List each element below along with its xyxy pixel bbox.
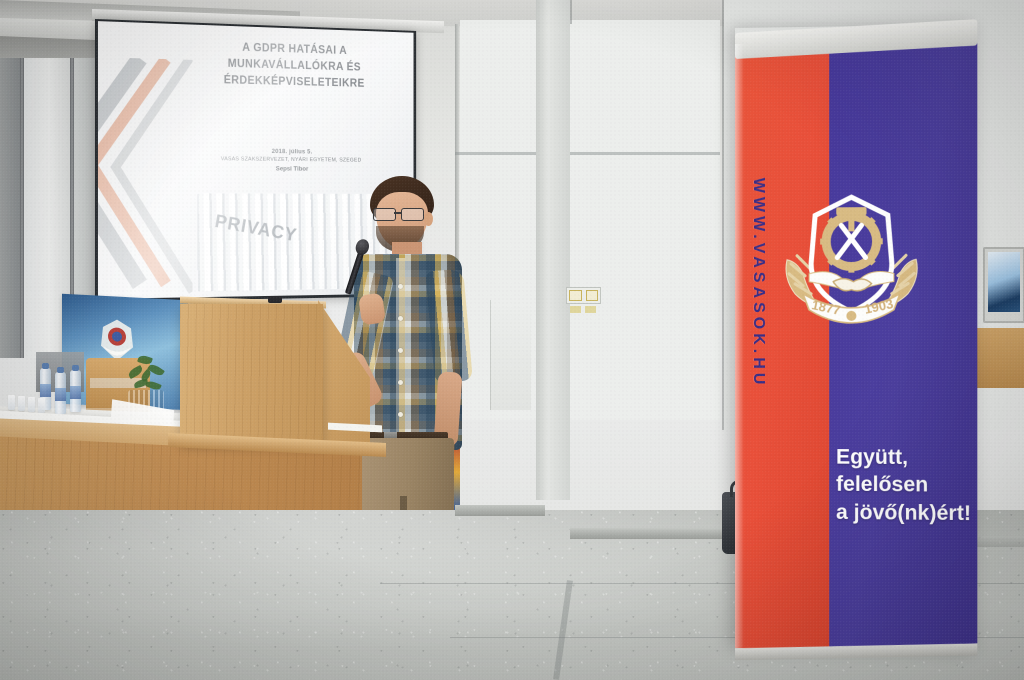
glasses-bridge — [394, 212, 401, 214]
shirt-button — [398, 380, 403, 385]
water-bottle[interactable] — [70, 370, 81, 412]
slide-subtitle: 2018. július 5. VASAS SZAKSZERVEZET, NYÁ… — [177, 147, 401, 173]
banner-left-highlight — [735, 44, 744, 648]
banner-purple-field — [829, 36, 977, 651]
socket-slot-1 — [569, 290, 582, 301]
emblem-year-left: 1877 — [810, 297, 842, 318]
glasses-lens-left — [373, 208, 396, 221]
wall-seam-2 — [570, 0, 572, 24]
drinking-glass[interactable] — [18, 396, 25, 411]
lectern-wood-grain — [180, 304, 323, 444]
monitor-screen — [988, 252, 1020, 312]
photo-scene: A GDPR HATÁSAI A MUNKAVÁLLALÓKRA ÉS ÉRDE… — [0, 0, 1024, 680]
bottle-label — [40, 384, 51, 397]
lectern-mic-clip[interactable] — [268, 296, 282, 303]
banner-slogan: Együtt, felelősen a jövő(nk)ért! — [836, 444, 977, 528]
rollup-banner: WWW.VASASOK.HU — [735, 24, 977, 652]
wall-socket-lower[interactable] — [570, 306, 596, 313]
shirt-button — [398, 316, 403, 321]
slogan-line-2: felelősen — [836, 471, 977, 500]
shirt-button — [398, 412, 403, 417]
drinking-glass[interactable] — [28, 397, 35, 412]
shirt-button — [398, 348, 403, 353]
glasses-lens-right — [401, 208, 424, 221]
drinking-glass[interactable] — [8, 395, 15, 410]
socket-lower-slot-2 — [585, 306, 596, 313]
wall-recess — [490, 300, 531, 410]
slogan-line-1: Együtt, — [836, 444, 977, 472]
slogan-line-3: a jövő(nk)ért! — [836, 498, 977, 527]
structural-pillar — [536, 0, 570, 500]
water-bottle[interactable] — [55, 372, 66, 414]
glasses-icon — [373, 208, 427, 219]
banner-url: WWW.VASASOK.HU — [749, 178, 767, 389]
wall-trim — [455, 152, 720, 155]
drinking-glass[interactable] — [38, 398, 45, 413]
slide-presenter: Sepsi Tibor — [177, 165, 401, 174]
slide-date: 2018. július 5. — [177, 147, 401, 156]
glass-pane-1 — [0, 58, 20, 358]
socket-slot-2 — [586, 290, 599, 301]
slide-chevron-graphic — [98, 56, 193, 298]
bottle-label — [70, 386, 81, 399]
slide-event: VASAS SZAKSZERVEZET, NYÁRI EGYETEM, SZEG… — [177, 156, 401, 164]
union-emblem-icon: 1877 1903 — [781, 189, 922, 338]
lectern — [180, 304, 323, 444]
baseboard — [455, 505, 545, 516]
bottle-label — [55, 388, 66, 401]
wall-seam-1 — [722, 0, 724, 430]
shirt-button — [398, 284, 403, 289]
speaker-hand-left — [358, 292, 386, 325]
slide-title: A GDPR HATÁSAI A MUNKAVÁLLALÓKRA ÉS ÉRDE… — [184, 38, 402, 93]
socket-lower-slot-1 — [570, 306, 581, 313]
wall-monitor — [983, 247, 1024, 323]
wall-socket[interactable] — [566, 287, 601, 304]
emblem-year-right: 1903 — [863, 296, 895, 317]
